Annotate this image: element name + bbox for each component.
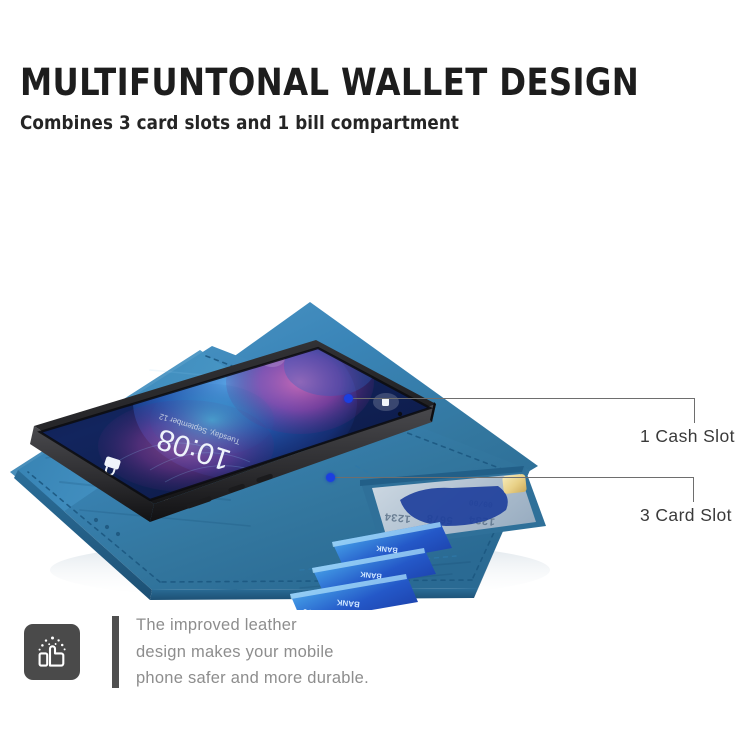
- feature-description: The improved leather design makes your m…: [136, 612, 369, 692]
- thumbs-up-icon: [24, 624, 80, 680]
- product-photo: 1234 5678 1234 00/00: [0, 170, 640, 610]
- feature-divider: [112, 616, 119, 688]
- callout-cash-leader-vertical: [694, 398, 695, 423]
- feature-line-2: design makes your mobile: [136, 639, 369, 666]
- feature-line-3: phone safer and more durable.: [136, 665, 369, 692]
- callout-cash-marker: [344, 394, 353, 403]
- callout-card-label: 3 Card Slot: [640, 505, 732, 526]
- header-block: MULTIFUNTONAL WALLET DESIGN Combines 3 c…: [20, 64, 720, 134]
- callout-cash-label: 1 Cash Slot: [640, 426, 735, 447]
- callout-card-marker: [326, 473, 335, 482]
- flashlight-icon[interactable]: [373, 393, 399, 411]
- phone-sensor: [398, 412, 402, 416]
- page-subtitle: Combines 3 card slots and 1 bill compart…: [20, 112, 706, 134]
- feature-line-1: The improved leather: [136, 612, 369, 639]
- callout-card-leader-vertical: [693, 477, 694, 502]
- thumbs-up-glyph: [33, 633, 71, 671]
- feature-strip: The improved leather design makes your m…: [24, 612, 369, 692]
- product-illustration: 1234 5678 1234 00/00: [0, 170, 640, 610]
- product-marketing-image: MULTIFUNTONAL WALLET DESIGN Combines 3 c…: [0, 0, 750, 750]
- callout-cash-leader-horizontal: [348, 398, 695, 399]
- page-title: MULTIFUNTONAL WALLET DESIGN: [20, 64, 699, 103]
- callout-card-leader-horizontal: [330, 477, 694, 478]
